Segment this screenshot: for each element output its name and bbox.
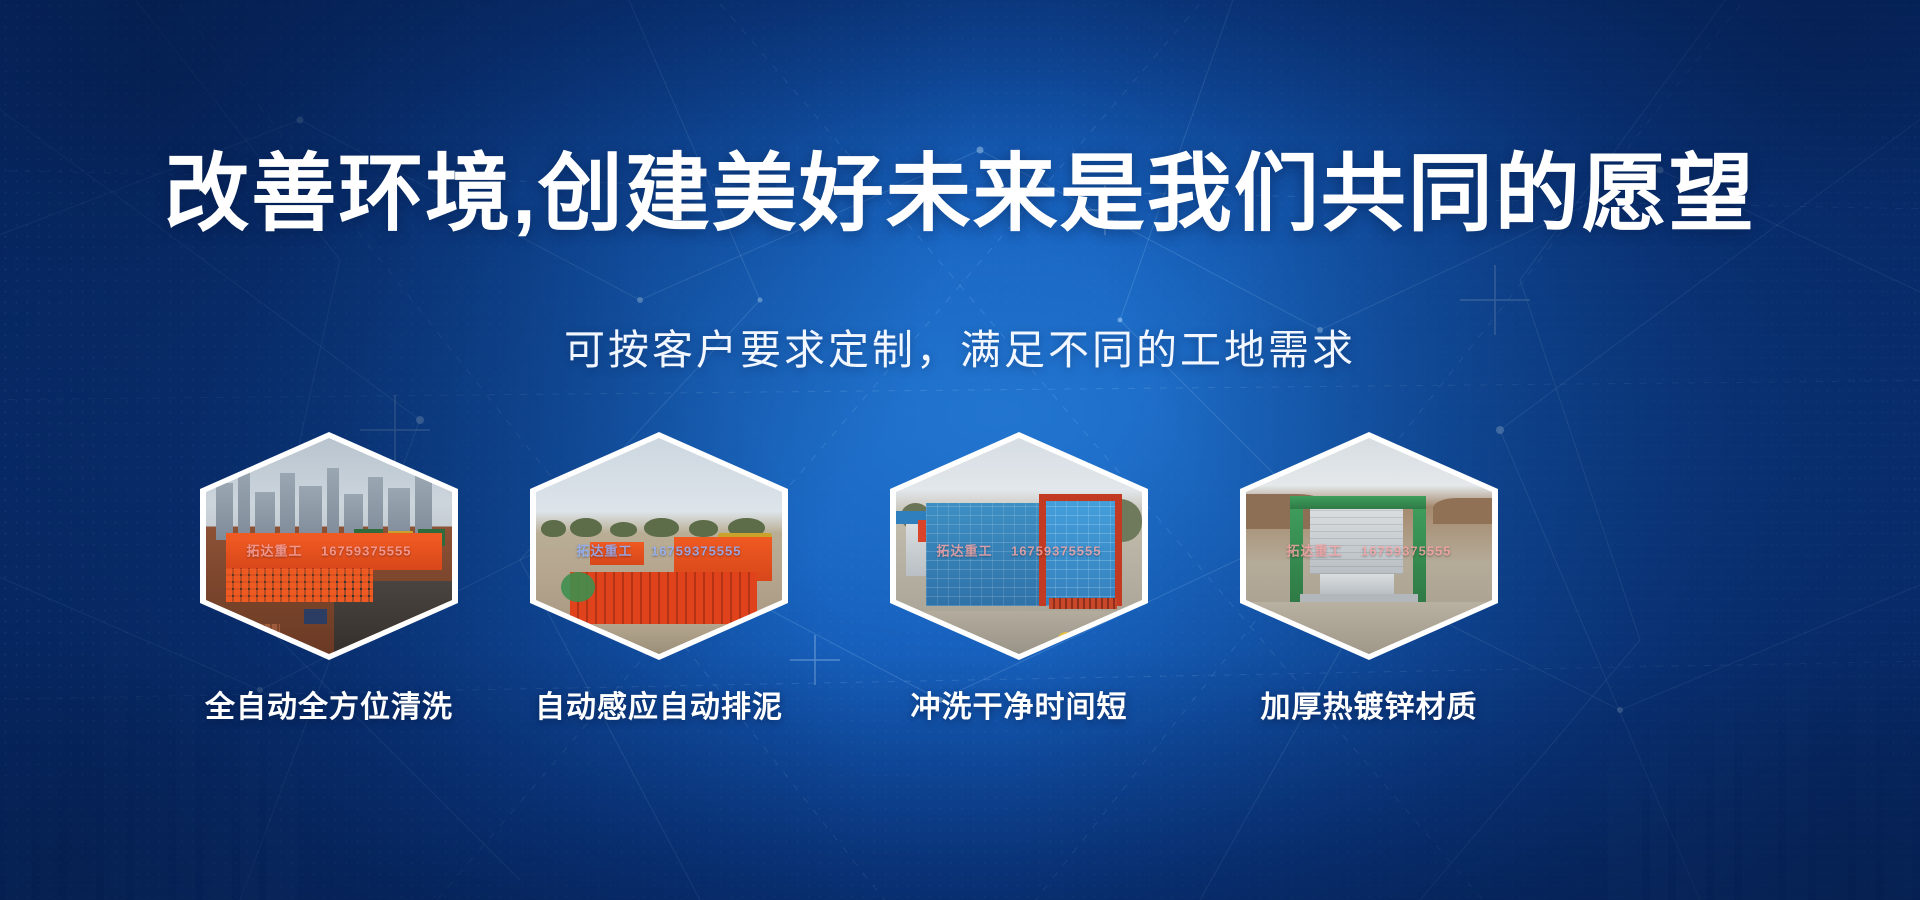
feature-caption: 冲洗干净时间短 — [890, 682, 1148, 726]
page-subtitle: 可按客户要求定制，满足不同的工地需求 — [0, 330, 1920, 371]
feature-card-row: 拓达重工 16759375555 全自动全方位清洗 — [0, 432, 1920, 772]
feature-caption: 加厚热镀锌材质 — [1240, 682, 1498, 726]
hexagon-photo-frame: 拓达重工 16759375555 — [1240, 432, 1498, 660]
feature-caption: 自动感应自动排泥 — [530, 682, 788, 726]
feature-card[interactable]: 拓达重工 16759375555 自动感应自动排泥 — [530, 432, 788, 726]
hexagon-photo-frame: 拓达重工 16759375555 — [890, 432, 1148, 660]
promo-banner: 改善环境,创建美好未来是我们共同的愿望 可按客户要求定制，满足不同的工地需求 — [0, 0, 1920, 900]
hexagon-photo-frame: 拓达重工 16759375555 — [200, 432, 458, 660]
page-title: 改善环境,创建美好未来是我们共同的愿望 — [0, 152, 1920, 237]
feature-card[interactable]: 拓达重工 16759375555 冲洗干净时间短 — [890, 432, 1148, 726]
feature-card[interactable]: 拓达重工 16759375555 加厚热镀锌材质 — [1240, 432, 1498, 726]
feature-caption: 全自动全方位清洗 — [200, 682, 458, 726]
feature-card[interactable]: 拓达重工 16759375555 全自动全方位清洗 — [200, 432, 458, 726]
hexagon-photo-frame: 拓达重工 16759375555 — [530, 432, 788, 660]
